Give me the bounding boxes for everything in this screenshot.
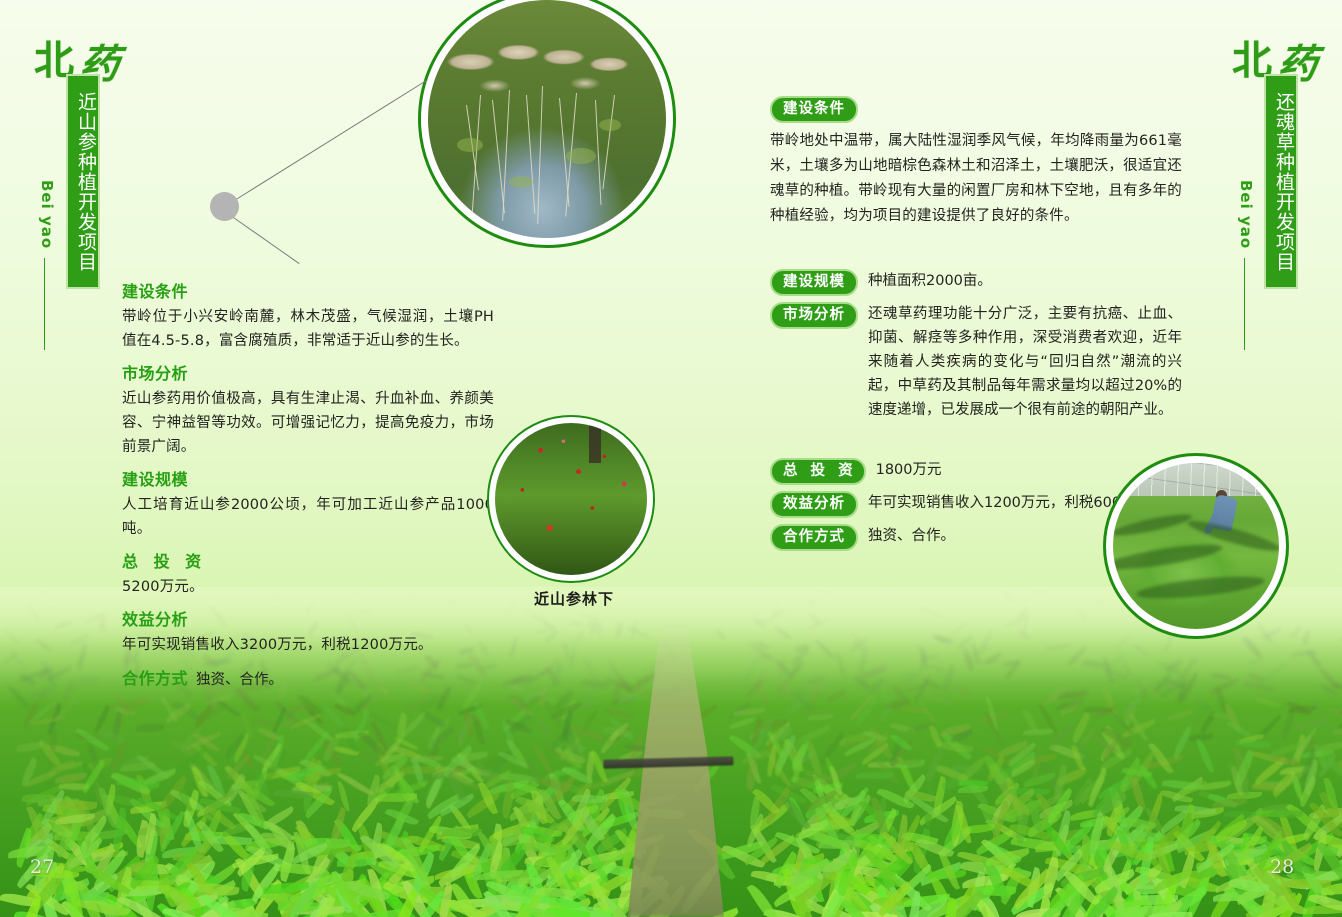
right-row-market-body: 还魂草药理功能十分广泛，主要有抗癌、止血、抑菌、解痉等多种作用，深受消费者欢迎，… [868, 302, 1182, 422]
field-leaf [1246, 657, 1264, 667]
left-heading-0: 建设条件 [122, 281, 494, 303]
field-leaf [1029, 587, 1046, 598]
left-body-1: 近山参药用价值极高，具有生津止渴、升血补血、养颜美容、宁神益智等功效。可增强记忆… [122, 387, 494, 459]
page-number-right: 28 [1270, 856, 1294, 878]
pinyin-right: Bei yao [1237, 180, 1255, 249]
field-leaf [1243, 679, 1274, 693]
field-leaf [958, 786, 988, 794]
field-leaf [135, 724, 164, 733]
field-leaf [253, 716, 276, 728]
left-inline-body: 独资、合作。 [196, 672, 283, 688]
field-leaf [796, 724, 832, 745]
right-block-1: 建设条件 带岭地处中温带，属大陆性湿润季风气候，年均降雨量为661毫米，土壤多为… [770, 96, 1182, 229]
field-leaf [1092, 597, 1103, 605]
field-leaf [1165, 709, 1194, 722]
field-leaf [821, 587, 835, 598]
left-heading-1: 市场分析 [122, 363, 494, 385]
left-heading-3: 总 投 资 [122, 551, 494, 573]
field-leaf [3, 628, 21, 645]
field-leaf [926, 690, 955, 708]
field-leaf [1208, 678, 1239, 696]
field-leaf [571, 620, 584, 626]
right-row-scale: 建设规模 种植面积2000亩。 [770, 269, 1182, 296]
spacer-1 [770, 229, 1182, 269]
field-leaf [1289, 625, 1303, 639]
field-leaf [614, 622, 625, 637]
greenhouse-image [1113, 463, 1279, 629]
field-leaf [54, 620, 72, 629]
field-leaf [1022, 729, 1052, 735]
field-leaf [27, 603, 40, 621]
field-leaf [1195, 737, 1214, 773]
pill-total-investment: 总 投 资 [770, 458, 866, 485]
field-leaf [69, 632, 91, 646]
field-leaf [826, 689, 848, 703]
field-leaf [1000, 588, 1017, 604]
field-leaf [954, 680, 972, 698]
field-leaf [806, 595, 818, 607]
field-leaf [928, 663, 945, 674]
greenhouse-photo [1103, 453, 1289, 639]
field-leaf [35, 637, 52, 653]
ginseng-roots-photo [418, 0, 676, 248]
field-leaf [583, 657, 598, 681]
field-leaf [1045, 644, 1071, 651]
field-leaf [1211, 672, 1232, 681]
field-leaf [1078, 608, 1088, 624]
left-body-0: 带岭位于小兴安岭南麓，林木茂盛，气候湿润，土壤PH值在4.5-5.8，富含腐殖质… [122, 305, 494, 353]
field-leaf [1255, 696, 1281, 710]
pill-market-analysis: 市场分析 [770, 302, 858, 329]
pinyin-rule-right [1244, 258, 1245, 350]
field-leaf [719, 675, 738, 693]
pinyin-rule-left [44, 258, 45, 350]
field-leaf [918, 605, 941, 617]
field-leaf [410, 755, 443, 762]
page-number-left: 27 [30, 856, 54, 878]
vertical-title-left: 近山参种植开发项目 [66, 74, 100, 289]
forest-ginseng-image [495, 423, 647, 575]
field-leaf [580, 613, 592, 620]
right-row-scale-body: 种植面积2000亩。 [868, 269, 1182, 293]
pill-benefit-analysis: 效益分析 [770, 491, 858, 518]
field-leaf [504, 596, 519, 616]
field-leaf [1147, 912, 1192, 917]
field-leaf [442, 827, 482, 837]
field-leaf [1132, 642, 1149, 658]
field-leaf [10, 648, 26, 670]
spacer-2 [770, 428, 1182, 458]
field-leaf [1115, 632, 1134, 649]
tree-trunk [589, 423, 601, 463]
left-body-4: 年可实现销售收入3200万元，利税1200万元。 [122, 633, 494, 657]
field-leaf [55, 772, 88, 783]
field-leaf [921, 654, 938, 661]
callout-dot [210, 192, 239, 221]
callout-line-upper [236, 79, 428, 200]
field-leaf [815, 638, 835, 660]
right-block-1-body: 带岭地处中温带，属大陆性湿润季风气候，年均降雨量为661毫米，土壤多为山地暗棕色… [770, 129, 1182, 229]
field-leaf [38, 587, 53, 603]
field-leaf [509, 635, 519, 657]
field-leaf [563, 642, 571, 660]
forest-ginseng-photo [487, 415, 655, 583]
left-inline-section: 合作方式独资、合作。 [122, 667, 494, 692]
field-leaf [1301, 629, 1312, 645]
pill-construction-conditions: 建设条件 [770, 96, 858, 123]
ginseng-roots-image [428, 0, 666, 238]
greenhouse-frame [1113, 463, 1279, 496]
field-leaf [856, 772, 893, 780]
field-leaf [16, 742, 43, 752]
field-leaf [76, 643, 89, 670]
field-leaf [625, 624, 650, 640]
left-text-column: 建设条件 带岭位于小兴安岭南麓，林木茂盛，气候湿润，土壤PH值在4.5-5.8，… [122, 281, 494, 700]
field-leaf [581, 710, 600, 732]
field-leaf [728, 717, 756, 730]
field-leaf [1288, 706, 1316, 713]
left-body-2: 人工培育近山参2000公顷，年可加工近山参产品1000吨。 [122, 493, 494, 541]
center-photo-caption: 近山参林下 [534, 588, 614, 609]
pill-construction-scale: 建设规模 [770, 269, 858, 296]
field-leaf [949, 622, 969, 638]
field-leaf [817, 731, 846, 765]
left-body-3: 5200万元。 [122, 575, 494, 599]
field-leaf [604, 707, 636, 719]
field-leaf [79, 676, 100, 684]
field-leaf [1269, 809, 1302, 819]
callout-line-lower [232, 216, 300, 264]
field-leaf [773, 624, 791, 640]
field-leaf [771, 609, 786, 619]
field-leaf [571, 627, 586, 645]
field-leaf [714, 628, 726, 640]
right-row-market: 市场分析 还魂草药理功能十分广泛，主要有抗癌、止血、抑菌、解痉等多种作用，深受消… [770, 302, 1182, 422]
left-heading-2: 建设规模 [122, 469, 494, 491]
field-leaf [786, 661, 805, 680]
field-leaf [1234, 737, 1271, 750]
pill-cooperation-mode: 合作方式 [770, 524, 858, 551]
vertical-title-right: 还魂草种植开发项目 [1264, 74, 1298, 289]
left-heading-4: 效益分析 [122, 609, 494, 631]
brochure-spread: 北药 近山参种植开发项目 Bei yao 北药 还魂草种植开发项目 Bei ya… [0, 0, 1342, 917]
left-inline-heading: 合作方式 [122, 669, 188, 688]
pinyin-left: Bei yao [38, 180, 56, 249]
field-leaf [835, 651, 847, 681]
